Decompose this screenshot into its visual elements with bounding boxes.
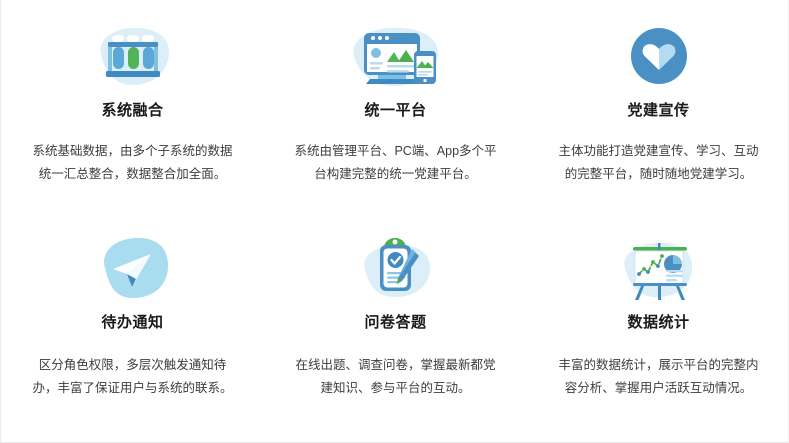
feature-description: 在线出题、调查问卷，掌握最新都党建知识、参与平台的互动。 (292, 354, 499, 400)
feature-description: 系统由管理平台、PC端、App多个平台构建完整的统一党建平台。 (292, 140, 499, 186)
feature-description: 丰富的数据统计，展示平台的完整内容分析、掌握用户活跃互动情况。 (555, 354, 762, 400)
feature-title: 问卷答题 (364, 314, 426, 332)
feature-grid: 系统融合 系统基础数据，由多个子系统的数据统一汇总整合，数据整合加全面。 (1, 0, 789, 438)
feature-title: 党建宣传 (627, 102, 689, 120)
feature-card-questionnaire[interactable]: 问卷答题 在线出题、调查问卷，掌握最新都党建知识、参与平台的互动。 (264, 228, 527, 438)
feature-description: 系统基础数据，由多个子系统的数据统一汇总整合，数据整合加全面。 (29, 140, 236, 186)
feature-card-todo-notification[interactable]: 待办通知 区分角色权限，多层次触发通知待办，丰富了保证用户与系统的联系。 (1, 228, 264, 438)
feature-description: 区分角色权限，多层次触发通知待办，丰富了保证用户与系统的联系。 (29, 354, 236, 400)
feature-title: 数据统计 (627, 314, 689, 332)
clipboard-check-pen-icon (351, 228, 441, 308)
feature-section: 系统融合 系统基础数据，由多个子系统的数据统一汇总整合，数据整合加全面。 (0, 0, 789, 443)
feature-card-unified-platform[interactable]: 统一平台 系统由管理平台、PC端、App多个平台构建完整的统一党建平台。 (264, 18, 527, 228)
browser-window-mobile-icon (346, 18, 446, 96)
feature-card-party-promotion[interactable]: 党建宣传 主体功能打造党建宣传、学习、互动的完整平台，随时随地党建学习。 (527, 18, 789, 228)
feature-title: 统一平台 (364, 102, 426, 120)
feature-card-system-integration[interactable]: 系统融合 系统基础数据，由多个子系统的数据统一汇总整合，数据整合加全面。 (1, 18, 264, 228)
feature-title: 待办通知 (101, 314, 163, 332)
paper-plane-icon (89, 228, 177, 308)
heart-circle-icon (623, 18, 695, 96)
test-tube-rack-icon (87, 18, 179, 96)
presentation-chart-easel-icon (611, 228, 707, 308)
feature-description: 主体功能打造党建宣传、学习、互动的完整平台，随时随地党建学习。 (555, 140, 762, 186)
feature-title: 系统融合 (101, 102, 163, 120)
feature-card-data-statistics[interactable]: 数据统计 丰富的数据统计，展示平台的完整内容分析、掌握用户活跃互动情况。 (527, 228, 789, 438)
